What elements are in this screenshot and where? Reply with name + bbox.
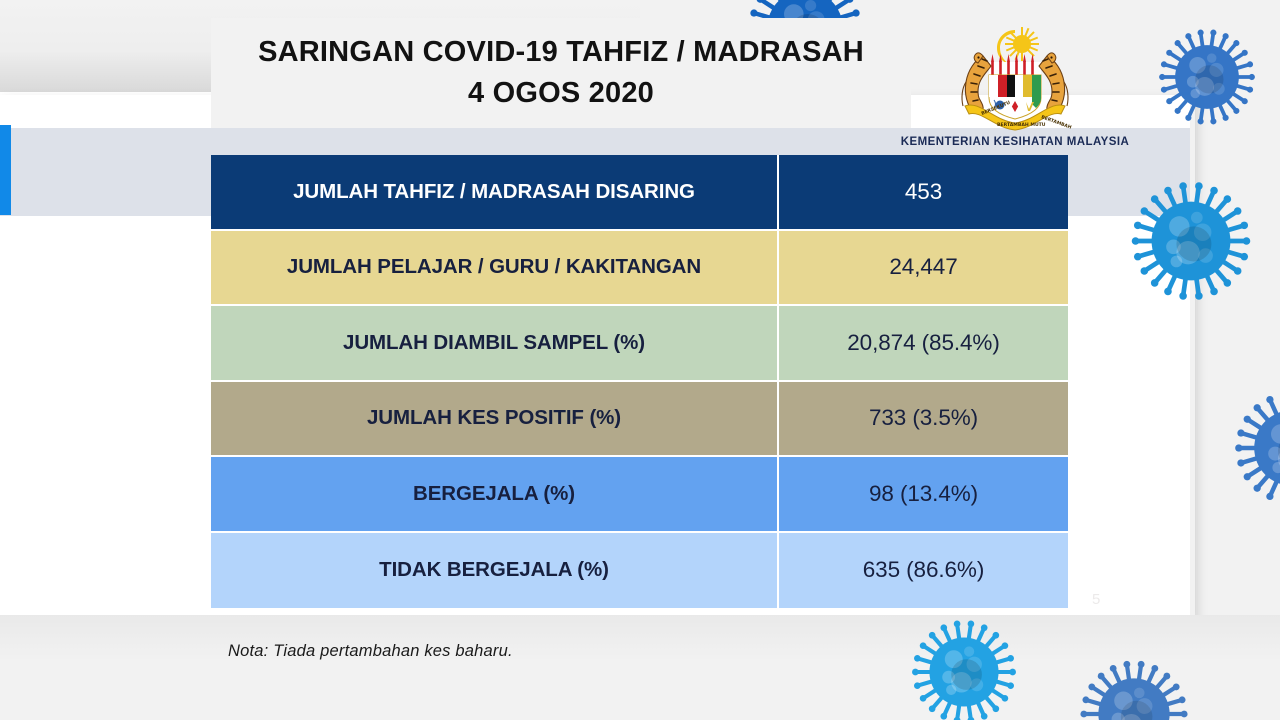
- slide-title-card: SARINGAN COVID-19 TAHFIZ / MADRASAH 4 OG…: [211, 18, 911, 128]
- page-title-line-1: SARINGAN COVID-19 TAHFIZ / MADRASAH: [258, 32, 864, 73]
- screening-stats-table: JUMLAH TAHFIZ / MADRASAH DISARING453JUML…: [211, 155, 1068, 608]
- table-cell-value: 20,874 (85.4%): [779, 306, 1068, 382]
- table-cell-value-text: 453: [905, 179, 942, 204]
- table-cell-label-text: JUMLAH KES POSITIF (%): [367, 406, 621, 429]
- table-cell-value-text: 20,874 (85.4%): [847, 330, 999, 355]
- slide-canvas: SARINGAN COVID-19 TAHFIZ / MADRASAH 4 OG…: [0, 0, 1280, 720]
- table-row: JUMLAH KES POSITIF (%)733 (3.5%): [211, 382, 1068, 458]
- tiger-left: [962, 53, 991, 114]
- page-title-line-2: 4 OGOS 2020: [468, 73, 654, 114]
- table-row: JUMLAH DIAMBIL SAMPEL (%)20,874 (85.4%): [211, 306, 1068, 382]
- table-cell-value-text: 98 (13.4%): [869, 481, 978, 506]
- table-cell-label-text: JUMLAH DIAMBIL SAMPEL (%): [343, 331, 645, 354]
- table-cell-value: 733 (3.5%): [779, 382, 1068, 458]
- svg-text:BERTAMBAH MUTU: BERTAMBAH MUTU: [997, 122, 1046, 128]
- virus-bottom-center-icon: [900, 608, 1028, 720]
- virus-bottom-right-icon: [1068, 648, 1200, 720]
- table-cell-value-text: 733 (3.5%): [869, 405, 978, 430]
- table-cell-value: 98 (13.4%): [779, 457, 1068, 533]
- table-row: TIDAK BERGEJALA (%)635 (86.6%): [211, 533, 1068, 609]
- left-accent-bar-front: [0, 125, 11, 215]
- table-cell-label: BERGEJALA (%): [211, 457, 779, 533]
- table-cell-value: 635 (86.6%): [779, 533, 1068, 609]
- table-row: JUMLAH TAHFIZ / MADRASAH DISARING453: [211, 155, 1068, 231]
- table-cell-value-text: 635 (86.6%): [863, 557, 984, 582]
- table-cell-value: 24,447: [779, 231, 1068, 307]
- ministry-logo-caption: KEMENTERIAN KESIHATAN MALAYSIA: [901, 136, 1130, 148]
- table-cell-value: 453: [779, 155, 1068, 231]
- table-cell-label: JUMLAH PELAJAR / GURU / KAKITANGAN: [211, 231, 779, 307]
- table-cell-label-text: JUMLAH TAHFIZ / MADRASAH DISARING: [293, 180, 695, 203]
- table-cell-label: JUMLAH KES POSITIF (%): [211, 382, 779, 458]
- table-row: JUMLAH PELAJAR / GURU / KAKITANGAN24,447: [211, 231, 1068, 307]
- table-cell-label: JUMLAH DIAMBIL SAMPEL (%): [211, 306, 779, 382]
- table-cell-label: TIDAK BERGEJALA (%): [211, 533, 779, 609]
- page-number: 5: [1092, 591, 1100, 608]
- table-row: BERGEJALA (%)98 (13.4%): [211, 457, 1068, 533]
- tiger-right: [1039, 53, 1068, 114]
- table-cell-label-text: JUMLAH PELAJAR / GURU / KAKITANGAN: [287, 255, 701, 278]
- table-cell-label-text: TIDAK BERGEJALA (%): [379, 558, 609, 581]
- virus-right-lower-icon: [1222, 378, 1280, 518]
- table-cell-value-text: 24,447: [889, 254, 957, 279]
- table-body: JUMLAH TAHFIZ / MADRASAH DISARING453JUML…: [211, 155, 1068, 608]
- virus-right-upper-icon: [1148, 18, 1266, 136]
- table-cell-label-text: BERGEJALA (%): [413, 482, 575, 505]
- malaysia-coat-of-arms-icon: BERSEKUTU BERTAMBAH MUTU BERTAMBAH: [953, 22, 1077, 134]
- ministry-logo: BERSEKUTU BERTAMBAH MUTU BERTAMBAH KEMEN…: [905, 22, 1125, 162]
- table-cell-label: JUMLAH TAHFIZ / MADRASAH DISARING: [211, 155, 779, 231]
- virus-right-mid-icon: [1118, 168, 1264, 314]
- footer-note: Nota: Tiada pertambahan kes baharu.: [228, 642, 513, 661]
